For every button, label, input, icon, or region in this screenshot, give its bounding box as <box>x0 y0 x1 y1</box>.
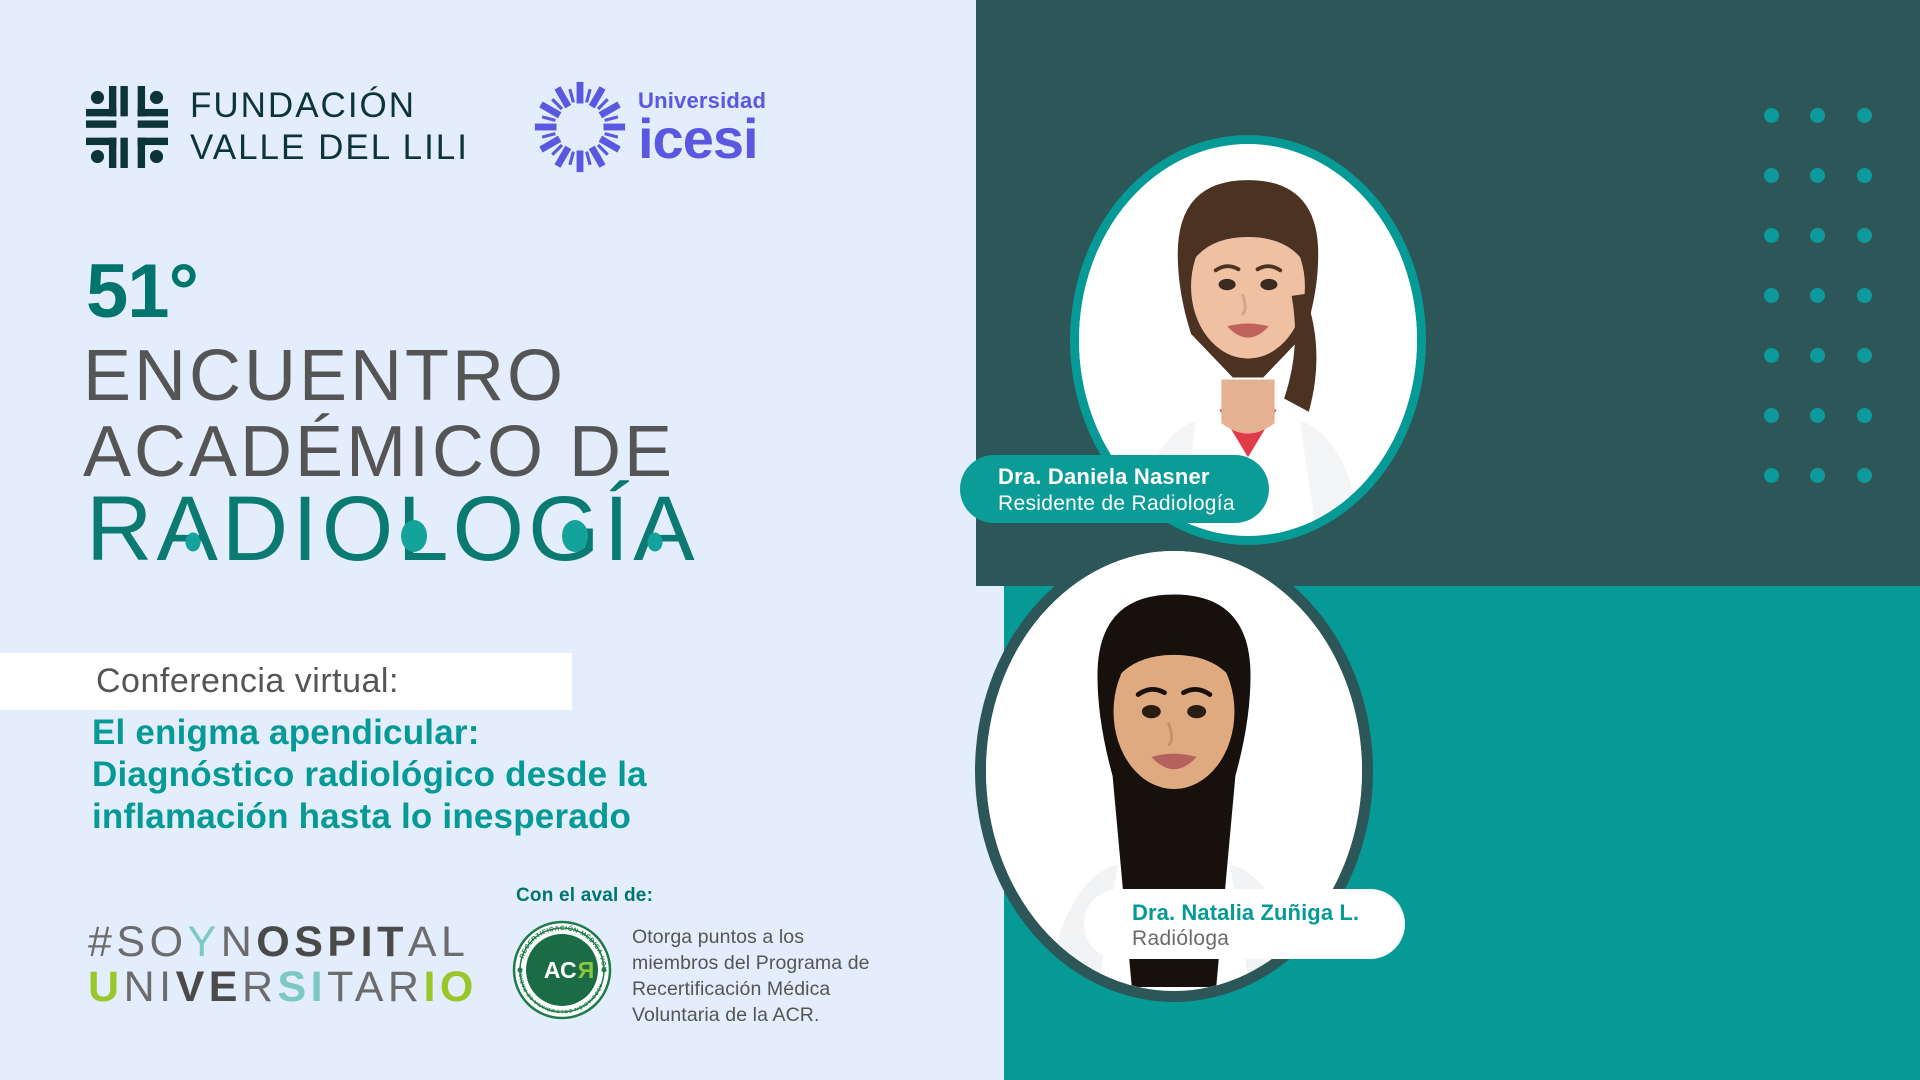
endorsement-note-line-3: Recertificación Médica <box>632 977 870 1003</box>
logo-bar: FUNDACIÓN VALLE DEL LILI Universidad ice… <box>86 78 766 176</box>
svg-text:AC: AC <box>544 957 576 983</box>
icesi-sun-icon <box>531 78 629 176</box>
grid-dot-icon <box>1810 348 1825 363</box>
universidad-icesi-logo: Universidad icesi <box>531 78 766 176</box>
hashtag-line-2: UNIVERSITARIO <box>88 965 478 1010</box>
icesi-name-label: icesi <box>638 113 766 165</box>
grid-dot-icon <box>1810 468 1825 483</box>
endorsement-note-line-4: Voluntaria de la ACR. <box>632 1003 870 1029</box>
icesi-wordmark: Universidad icesi <box>638 90 766 165</box>
grid-dot-icon <box>1857 408 1872 423</box>
speaker-role: Residente de Radiología <box>998 491 1235 516</box>
endorsement-label: Con el aval de: <box>516 885 653 907</box>
grid-dot-icon <box>1764 288 1779 303</box>
poster-canvas: FUNDACIÓN VALLE DEL LILI Universidad ice… <box>0 0 1920 1080</box>
grid-dot-icon <box>1857 168 1872 183</box>
speaker-name-pill-daniela-nasner: Dra. Daniela Nasner Residente de Radiolo… <box>960 455 1269 523</box>
speaker-name: Dra. Natalia Zuñiga L. <box>1132 899 1359 926</box>
title-radiologia-word: RADIOLOGÍA <box>86 483 699 575</box>
endorsement-note-line-1: Otorga puntos a los <box>632 925 870 951</box>
soy-hospital-universitario-logo: #SOYNOSPITAL UNIVERSITARIO <box>88 920 478 1009</box>
endorsement-note-line-2: miembros del Programa de <box>632 951 870 977</box>
fundacion-cross-icon <box>86 86 168 168</box>
fundacion-line-1: FUNDACIÓN <box>190 85 469 127</box>
conference-title: El enigma apendicular: Diagnóstico radio… <box>92 712 647 838</box>
letter-dot-icon <box>401 520 427 552</box>
edition-number: 51° <box>86 254 198 330</box>
letter-dot-icon <box>186 532 201 551</box>
speaker-name: Dra. Daniela Nasner <box>998 463 1235 491</box>
fundacion-line-2: VALLE DEL LILI <box>190 127 469 169</box>
speaker-name-pill-natalia-zuniga: Dra. Natalia Zuñiga L. Radióloga <box>1084 889 1405 959</box>
conference-kicker-banner: Conferencia virtual: <box>0 653 572 710</box>
conference-kicker-text: Conferencia virtual: <box>96 662 399 701</box>
grid-dot-icon <box>1764 228 1779 243</box>
grid-dot-icon <box>1810 228 1825 243</box>
letter-dot-icon <box>562 520 588 552</box>
endorsement-note: Otorga puntos a los miembros del Program… <box>632 925 870 1029</box>
conference-title-line-1: El enigma apendicular: <box>92 712 647 754</box>
grid-dot-icon <box>1810 408 1825 423</box>
title-line-1: ENCUENTRO <box>83 340 566 412</box>
hashtag-line-1: #SOYNOSPITAL <box>88 920 478 965</box>
grid-dot-icon <box>1857 108 1872 123</box>
grid-dot-icon <box>1764 168 1779 183</box>
grid-dot-icon <box>1810 168 1825 183</box>
grid-dot-icon <box>1764 408 1779 423</box>
conference-title-line-2: Diagnóstico radiológico desde la <box>92 754 647 796</box>
title-line-3: RADIOLOGÍA <box>86 483 699 575</box>
fundacion-logo-text: FUNDACIÓN VALLE DEL LILI <box>190 85 469 169</box>
acr-certification-seal-icon: RECERTIFICACIÓN MÉDICA VOLUNTARIA ASOCIA… <box>512 920 612 1020</box>
dot-grid-decoration <box>1748 85 1888 505</box>
grid-dot-icon <box>1764 108 1779 123</box>
conference-title-line-3: inflamación hasta lo inesperado <box>92 796 647 838</box>
grid-dot-icon <box>1764 348 1779 363</box>
grid-dot-icon <box>1857 348 1872 363</box>
grid-dot-icon <box>1857 468 1872 483</box>
fundacion-valle-del-lili-logo: FUNDACIÓN VALLE DEL LILI <box>86 85 469 169</box>
grid-dot-icon <box>1857 228 1872 243</box>
letter-dot-icon <box>648 532 663 551</box>
grid-dot-icon <box>1764 468 1779 483</box>
grid-dot-icon <box>1857 288 1872 303</box>
grid-dot-icon <box>1810 108 1825 123</box>
speaker-role: Radióloga <box>1132 926 1359 951</box>
svg-text:Я: Я <box>578 957 595 983</box>
grid-dot-icon <box>1810 288 1825 303</box>
